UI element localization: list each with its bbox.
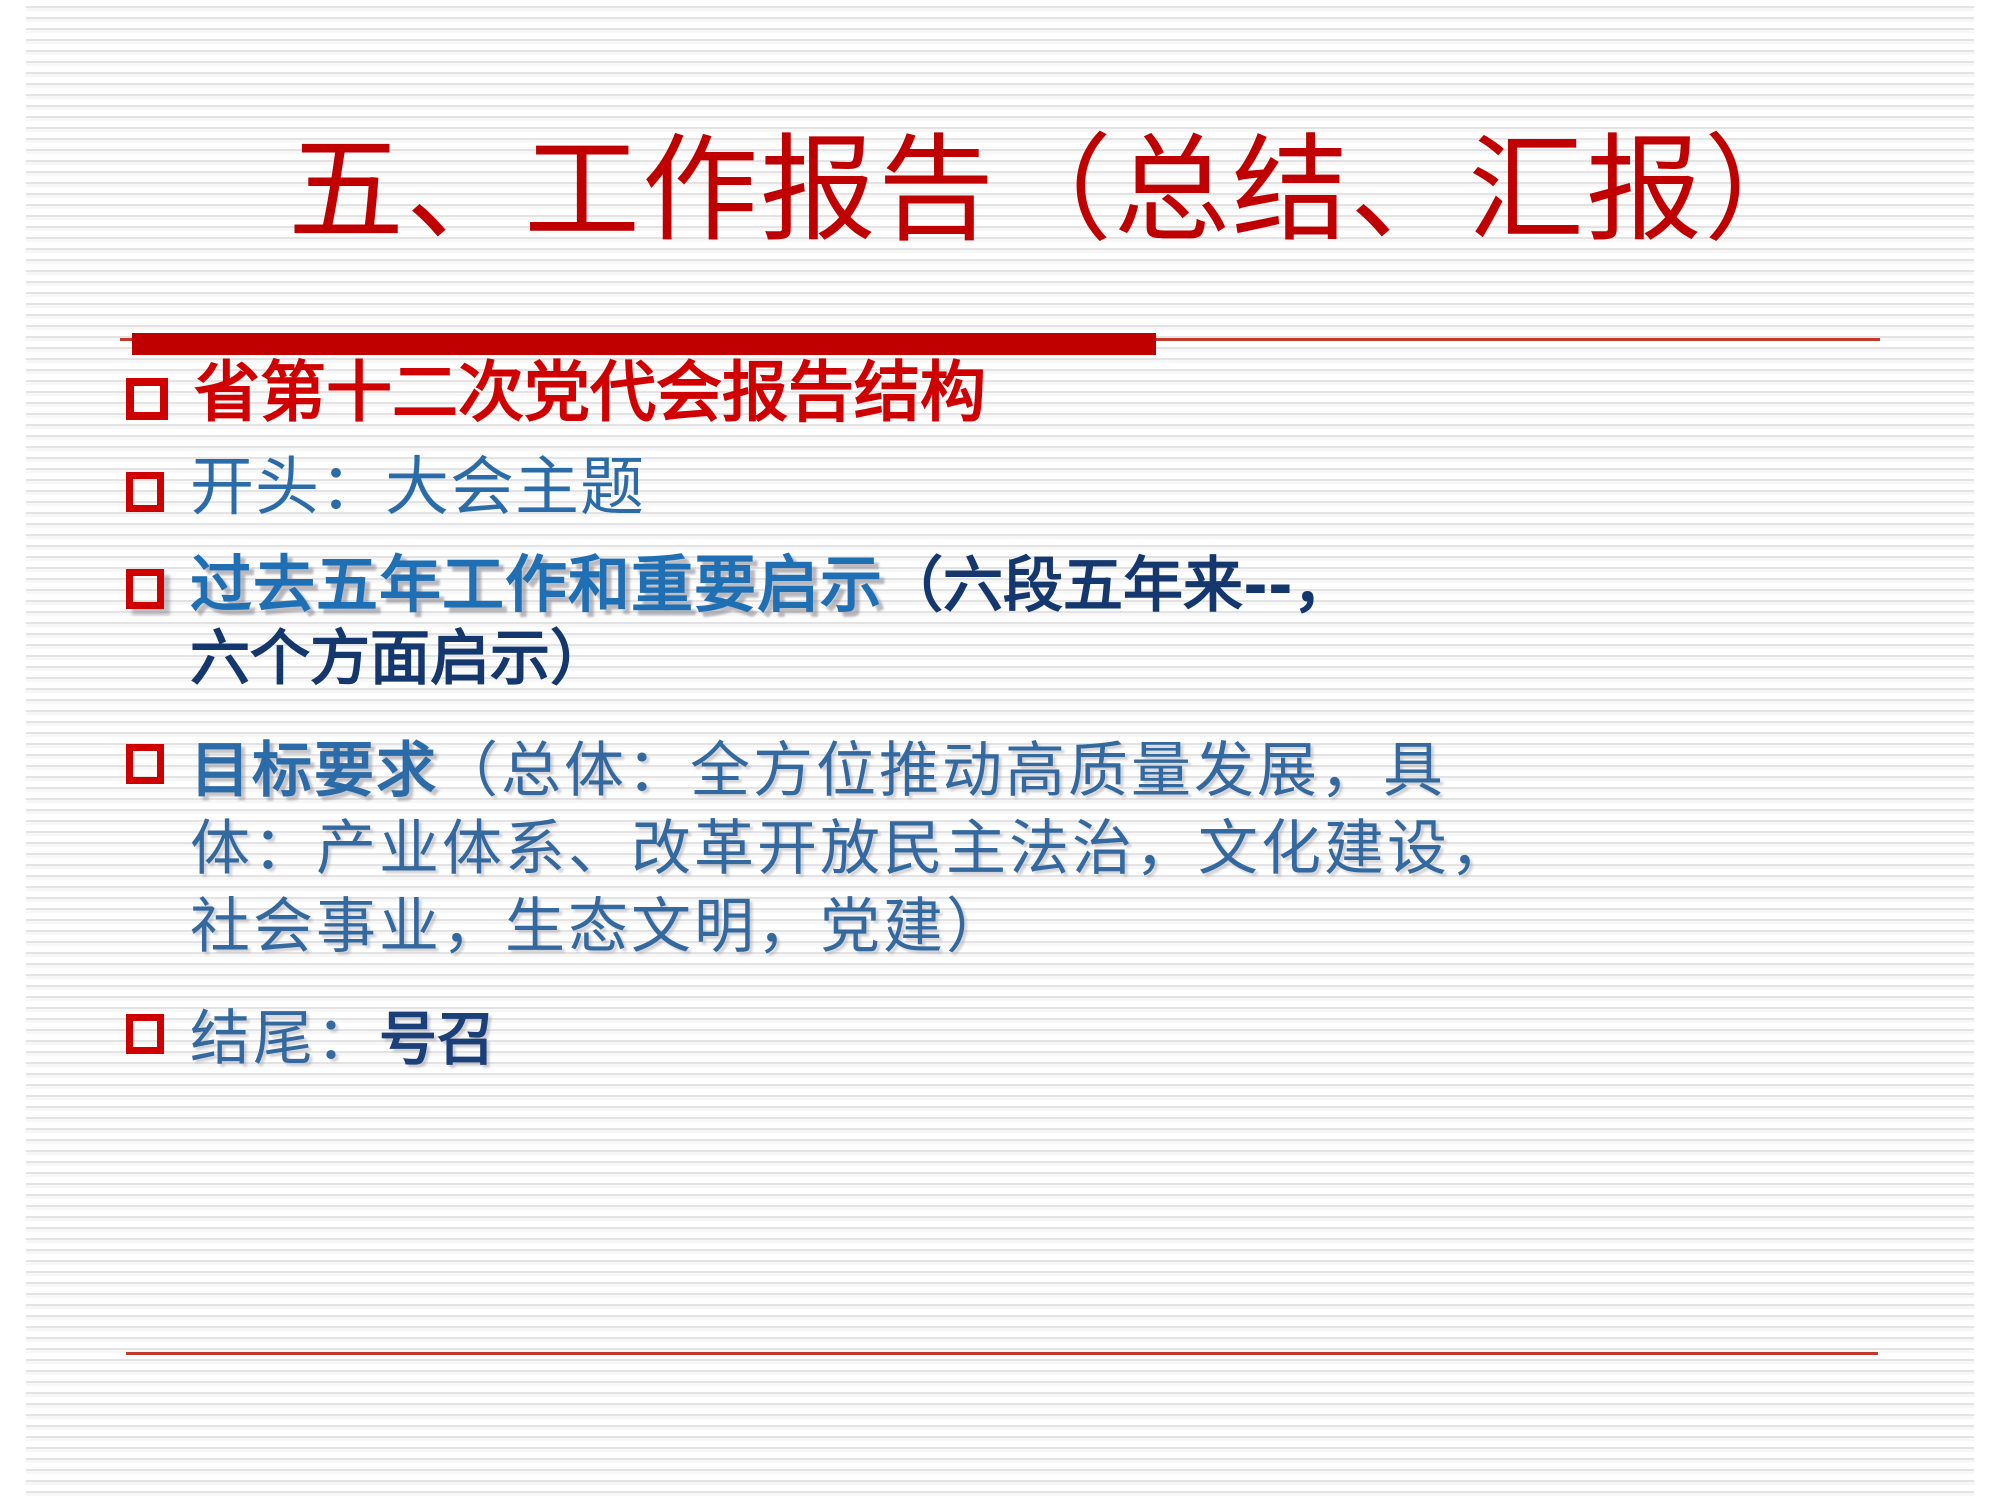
list-item-text-parenthetical: （六段五年来--， bbox=[883, 551, 1353, 621]
square-bullet-icon bbox=[126, 744, 164, 784]
list-item-text-wrap: 六个方面启示） bbox=[190, 623, 1886, 696]
list-item-text-head: 结尾： bbox=[190, 1004, 379, 1074]
list-item-text-line3: 社会事业，生态文明，党建） bbox=[190, 888, 1886, 966]
list-item-body: 开头：大会主题 bbox=[190, 450, 1886, 527]
bottom-rule bbox=[126, 1352, 1878, 1355]
list-item-text: 开头：大会主题 bbox=[190, 450, 1886, 527]
list-item-body: 省第十二次党代会报告结构 bbox=[194, 356, 1886, 430]
slide-canvas: 五、工作报告（总结、汇报） 省第十二次党代会报告结构 开头：大会主题 过去五年工… bbox=[0, 0, 2000, 1500]
list-item-text-emphasis: 过去五年工作和重要启示 bbox=[190, 548, 883, 621]
square-bullet-icon bbox=[126, 569, 164, 609]
list-item: 开头：大会主题 bbox=[126, 450, 1886, 527]
list-item: 过去五年工作和重要启示（六段五年来--， 六个方面启示） bbox=[126, 547, 1886, 696]
bullet-list: 省第十二次党代会报告结构 开头：大会主题 过去五年工作和重要启示（六段五年来--… bbox=[126, 356, 1886, 1082]
square-bullet-icon bbox=[126, 472, 164, 512]
list-item-body: 过去五年工作和重要启示（六段五年来--， 六个方面启示） bbox=[190, 547, 1886, 696]
square-bullet-icon bbox=[126, 378, 168, 420]
list-item-line: 目标要求（总体：全方位推动高质量发展，具 bbox=[190, 722, 1886, 810]
list-item-text-line1: （总体：全方位推动高质量发展，具 bbox=[438, 736, 1446, 806]
list-item: 结尾：号召 bbox=[126, 992, 1886, 1078]
list-item-text-strong: 号召 bbox=[379, 1005, 495, 1073]
divider-thick-bar bbox=[132, 333, 1156, 355]
list-item-body: 结尾：号召 bbox=[190, 992, 1886, 1078]
list-item-text: 省第十二次党代会报告结构 bbox=[194, 356, 1886, 430]
square-bullet-icon bbox=[126, 1014, 164, 1054]
list-item-line: 过去五年工作和重要启示（六段五年来--， bbox=[190, 547, 1886, 623]
list-item: 省第十二次党代会报告结构 bbox=[126, 356, 1886, 430]
list-item-body: 目标要求（总体：全方位推动高质量发展，具 体：产业体系、改革开放民主法治，文化建… bbox=[190, 722, 1886, 966]
page-title: 五、工作报告（总结、汇报） bbox=[0, 128, 2000, 253]
list-item-line: 结尾：号召 bbox=[190, 992, 1886, 1078]
list-item-text-line2: 体：产业体系、改革开放民主法治，文化建设， bbox=[190, 810, 1886, 888]
list-item-text-head: 目标要求 bbox=[190, 736, 438, 806]
list-item: 目标要求（总体：全方位推动高质量发展，具 体：产业体系、改革开放民主法治，文化建… bbox=[126, 722, 1886, 966]
